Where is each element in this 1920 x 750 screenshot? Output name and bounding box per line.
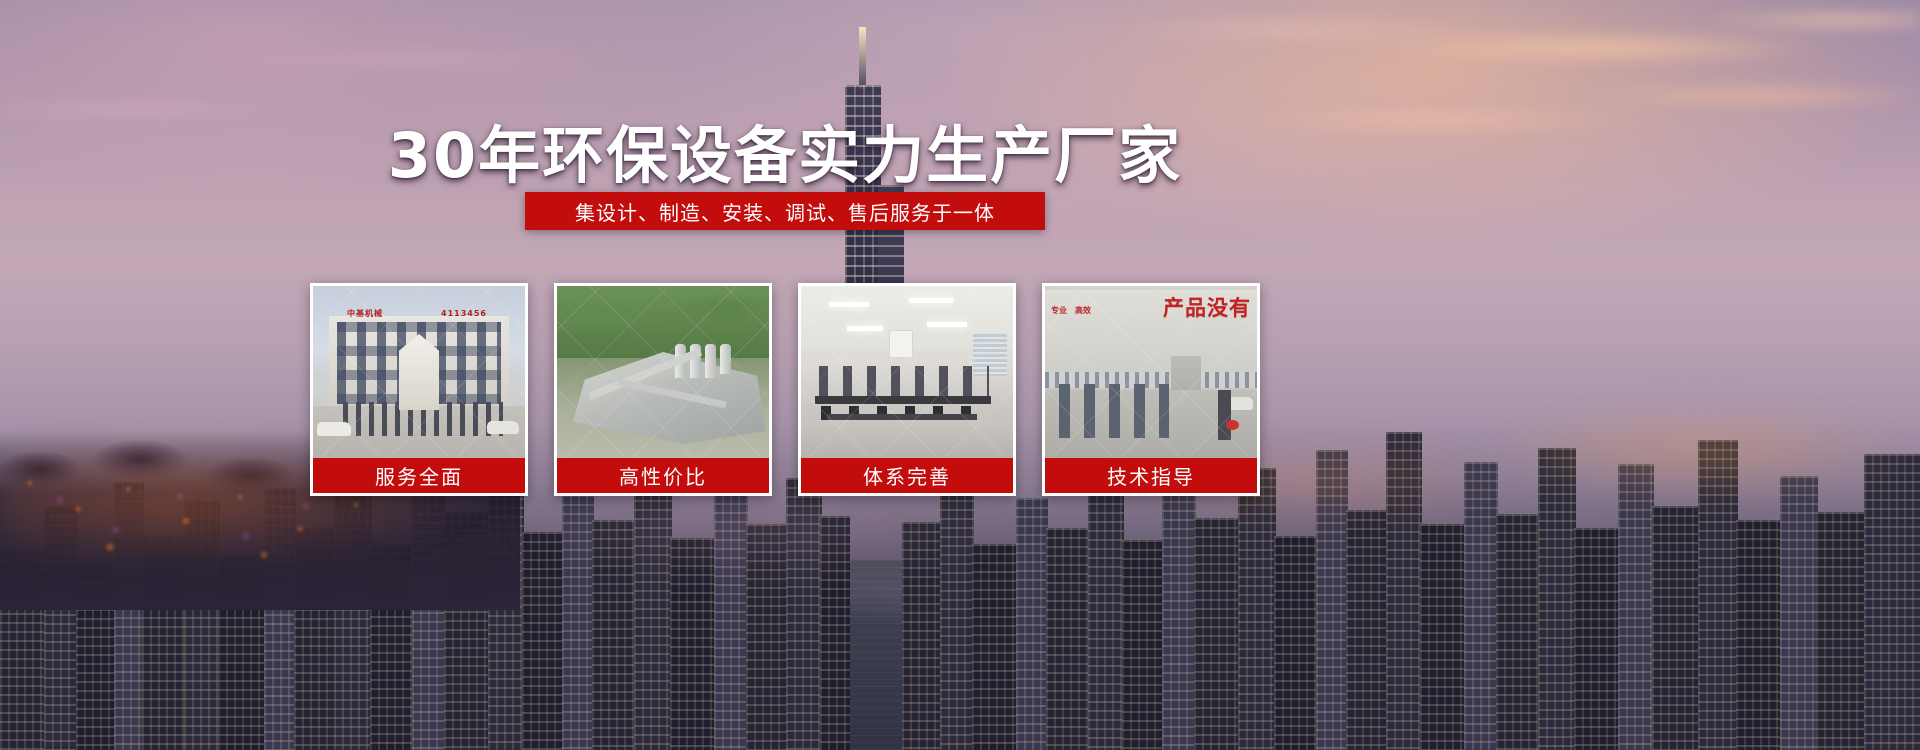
ceiling-light-4 xyxy=(927,322,967,327)
parked-car-right xyxy=(487,421,519,434)
office-desk-1 xyxy=(815,396,991,404)
hero-banner: 30年环保设备实力生产厂家 集设计、制造、安装、调试、售后服务于一体 中基机械 … xyxy=(0,0,1920,750)
instructor-figure xyxy=(1218,390,1231,440)
subtitle-badge: 集设计、制造、安装、调试、售后服务于一体 xyxy=(525,192,1045,230)
office-staff xyxy=(819,366,989,400)
card-caption: 服务全面 xyxy=(313,458,525,493)
feature-card-list: 中基机械 4113456 服务全面 xyxy=(310,283,1560,496)
card-caption: 体系完善 xyxy=(801,458,1013,493)
green-fields xyxy=(557,286,769,358)
wall-poster xyxy=(889,330,913,358)
feature-card-value[interactable]: 高性价比 xyxy=(554,283,772,496)
ceiling-light-1 xyxy=(829,302,869,307)
silo-4 xyxy=(720,344,731,374)
card-caption: 技术指导 xyxy=(1045,458,1257,493)
silo-3 xyxy=(705,344,716,378)
ceiling-light-3 xyxy=(847,326,883,331)
banner-content: 30年环保设备实力生产厂家 集设计、制造、安装、调试、售后服务于一体 中基机械 … xyxy=(0,0,1920,750)
card-photo-office-interior xyxy=(801,286,1013,458)
feature-card-system[interactable]: 体系完善 xyxy=(798,283,1016,496)
company-phone-text: 4113456 xyxy=(441,309,487,318)
card-photo-aerial-plant xyxy=(557,286,769,458)
office-floor xyxy=(801,420,1013,458)
feature-card-service[interactable]: 中基机械 4113456 服务全面 xyxy=(310,283,528,496)
company-sign-text: 中基机械 xyxy=(347,308,383,319)
card-caption: 高性价比 xyxy=(557,458,769,493)
parked-car-left xyxy=(317,422,351,436)
worker-lineup xyxy=(1059,384,1169,438)
factory-wall-slogan: 产品没有 xyxy=(1163,292,1251,322)
building-roof-sign: 中基机械 4113456 xyxy=(347,308,487,319)
ceiling-light-2 xyxy=(909,298,953,303)
feature-card-guidance[interactable]: 产品没有 专业 高效 技术指导 xyxy=(1042,283,1260,496)
factory-wall-small-text: 专业 高效 xyxy=(1051,306,1147,316)
card-photo-factory-workers: 产品没有 专业 高效 xyxy=(1045,286,1257,458)
wall-small-text-2: 高效 xyxy=(1075,306,1091,316)
page-title: 30年环保设备实力生产厂家 xyxy=(0,105,1570,195)
card-photo-office-building: 中基机械 4113456 xyxy=(313,286,525,458)
red-helmet xyxy=(1226,420,1239,430)
wall-small-text-1: 专业 xyxy=(1051,306,1067,316)
